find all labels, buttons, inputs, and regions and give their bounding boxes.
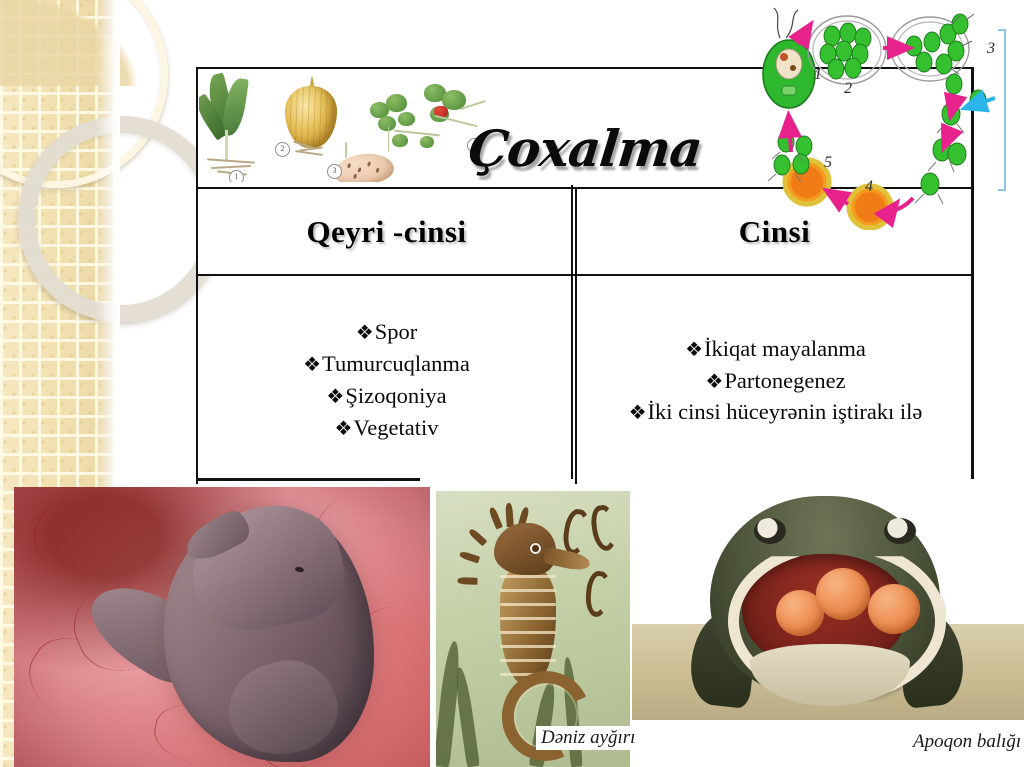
page-title: Çoxalma — [196, 119, 974, 178]
caption-fish: Apoqon balığı — [908, 730, 1024, 754]
diamond-bullet-icon: ❖ — [685, 339, 703, 361]
cycle-label-4: 4 — [865, 178, 873, 196]
seahorse-trunk — [500, 565, 556, 685]
reproduction-table: Çoxalma Qeyri -cinsi Cinsi ❖Spor ❖Tumurc… — [196, 67, 974, 484]
table-body-cell-asexual: ❖Spor ❖Tumurcuqlanma ❖Şizoqoniya ❖Vegeta… — [198, 276, 575, 484]
cycle-label-3: 3 — [987, 40, 995, 58]
list-item: ❖Tumurcuqlanma — [198, 348, 575, 380]
life-cycle-diagram-svg — [752, 2, 1024, 230]
table-border-column-divider — [571, 185, 573, 479]
sexual-list: ❖İkiqat mayalanma ❖Partonegenez ❖İki cin… — [577, 333, 974, 427]
list-item-label: Spor — [375, 319, 418, 344]
table-header-cell-asexual: Qeyri -cinsi — [198, 189, 575, 274]
list-item: ❖İki cinsi hüceyrənin iştirakı ilə — [577, 397, 974, 427]
seahorse-eye — [528, 541, 543, 556]
cycle-label-2: 2 — [844, 80, 852, 98]
list-item: ❖Vegetativ — [198, 412, 575, 444]
diamond-bullet-icon: ❖ — [326, 386, 344, 408]
seahorse-illustration — [472, 513, 552, 723]
seahorse-small-icon — [589, 504, 619, 553]
diamond-bullet-icon: ❖ — [356, 322, 374, 344]
seahorse-small-icon — [584, 570, 613, 618]
table-body-cell-sexual: ❖İkiqat mayalanma ❖Partonegenez ❖İki cin… — [575, 276, 974, 484]
fish-eye-left — [754, 518, 786, 544]
list-item: ❖Partonegenez — [577, 365, 974, 397]
list-item: ❖Şizoqoniya — [198, 380, 575, 412]
apogon-fish-photo — [632, 492, 1024, 720]
list-item: ❖İkiqat mayalanma — [577, 333, 974, 365]
fish-egg-cluster — [868, 584, 920, 634]
fish-egg-cluster — [816, 568, 870, 620]
algae-life-cycle-figure: 1 2 3 4 5 — [752, 2, 1024, 230]
decorative-ring-small-icon — [18, 116, 224, 322]
column-header-asexual: Qeyri -cinsi — [306, 214, 466, 250]
table-border-bottom — [196, 478, 420, 481]
list-item-label: Tumurcuqlanma — [322, 351, 470, 376]
caption-seahorse: Dəniz ayğırı — [536, 726, 640, 750]
asexual-list: ❖Spor ❖Tumurcuqlanma ❖Şizoqoniya ❖Vegeta… — [198, 316, 575, 444]
fish-eye-right — [884, 518, 916, 544]
cycle-label-1: 1 — [814, 66, 822, 84]
seahorse-small-icon — [560, 507, 592, 556]
slide-canvas: Çoxalma Qeyri -cinsi Cinsi ❖Spor ❖Tumurc… — [0, 0, 1024, 767]
table-body-row: ❖Spor ❖Tumurcuqlanma ❖Şizoqoniya ❖Vegeta… — [196, 276, 974, 484]
diamond-bullet-icon: ❖ — [303, 354, 321, 376]
list-item-label: Şizoqoniya — [345, 383, 446, 408]
diamond-bullet-icon: ❖ — [335, 418, 353, 440]
list-item-label: Partonegenez — [724, 368, 845, 393]
list-item: ❖Spor — [198, 316, 575, 348]
table-border-left — [196, 185, 198, 479]
dolphin-fetus-photo — [14, 487, 430, 767]
list-item-label: İki cinsi hüceyrənin iştirakı ilə — [648, 399, 923, 424]
list-item-label: Vegetativ — [353, 415, 438, 440]
list-item-label: İkiqat mayalanma — [704, 336, 866, 361]
diamond-bullet-icon: ❖ — [705, 371, 723, 393]
diamond-bullet-icon: ❖ — [629, 402, 647, 424]
